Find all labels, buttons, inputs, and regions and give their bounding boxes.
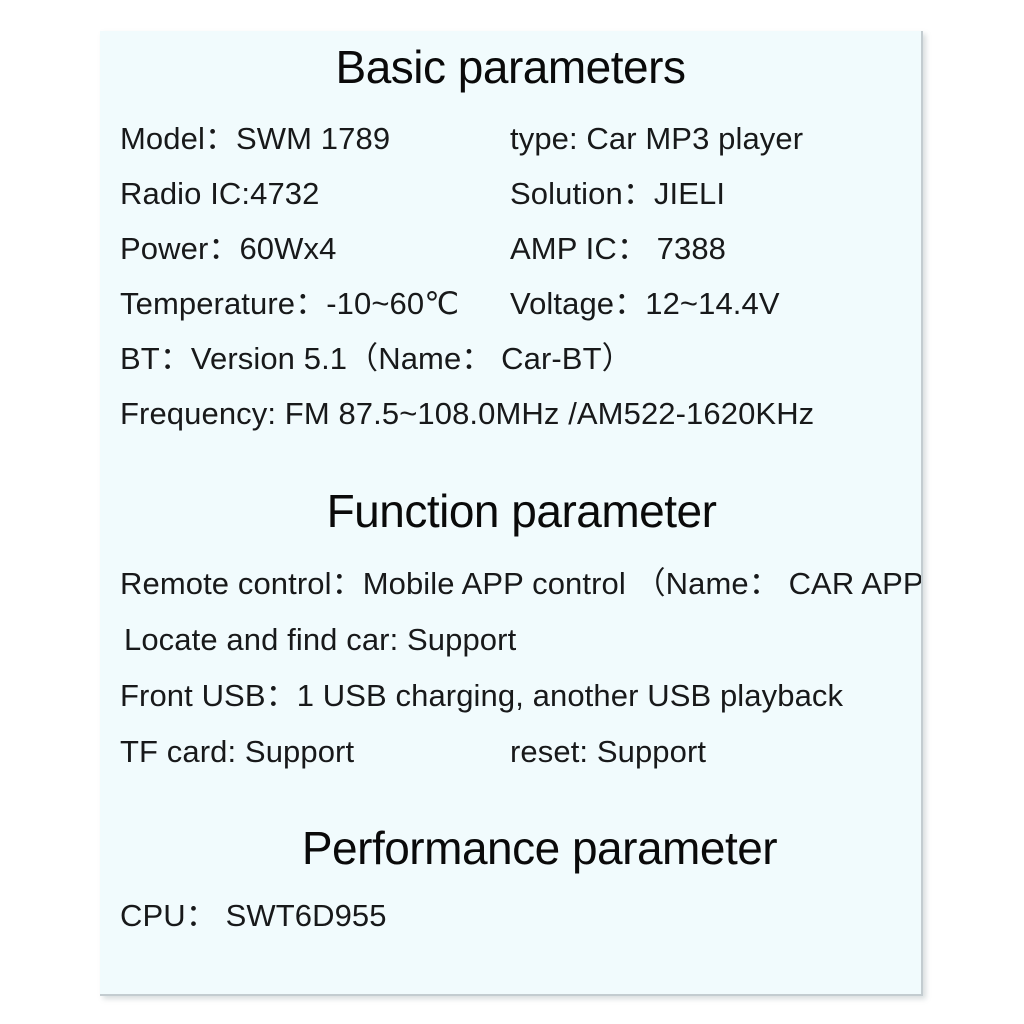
section-performance-parameter: Performance parameter CPU： SWT6D955	[100, 824, 921, 943]
table-row: Temperature：-10~60℃ Voltage：12~14.4V	[100, 276, 921, 331]
spec-cpu: CPU： SWT6D955	[120, 888, 387, 943]
basic-parameter-rows: Model：SWM 1789 type: Car MP3 player Radi…	[100, 111, 921, 441]
table-row: Front USB：1 USB charging, another USB pl…	[100, 668, 921, 724]
table-row: Frequency: FM 87.5~108.0MHz /AM522-1620K…	[100, 386, 921, 441]
spec-locate-find-car: Locate and find car: Support	[124, 612, 516, 668]
section-title-basic: Basic parameters	[100, 43, 921, 91]
table-row: Power：60Wx4 AMP IC： 7388	[100, 221, 921, 276]
spec-radio-ic: Radio IC:4732	[120, 166, 320, 221]
spec-bluetooth: BT：Version 5.1（Name： Car-BT）	[120, 331, 633, 386]
section-function-parameter: Function parameter Remote control：Mobile…	[100, 487, 921, 779]
table-row: Remote control：Mobile APP control （Name：…	[100, 556, 921, 612]
function-parameter-rows: Remote control：Mobile APP control （Name：…	[100, 556, 921, 780]
spec-remote-control: Remote control：Mobile APP control （Name：…	[120, 556, 923, 612]
section-basic-parameters: Basic parameters Model：SWM 1789 type: Ca…	[100, 43, 921, 441]
section-title-function: Function parameter	[100, 487, 921, 535]
spec-frequency: Frequency: FM 87.5~108.0MHz /AM522-1620K…	[120, 386, 814, 441]
spec-voltage: Voltage：12~14.4V	[510, 276, 780, 331]
table-row: TF card: Support reset: Support	[100, 724, 921, 780]
spec-type: type: Car MP3 player	[510, 111, 803, 166]
spec-amp-ic: AMP IC： 7388	[510, 221, 726, 276]
spec-model: Model：SWM 1789	[120, 111, 390, 166]
table-row: Radio IC:4732 Solution：JIELI	[100, 166, 921, 221]
spec-tf-card: TF card: Support	[120, 724, 354, 780]
spec-solution: Solution：JIELI	[510, 166, 725, 221]
spec-reset: reset: Support	[510, 724, 706, 780]
table-row: Model：SWM 1789 type: Car MP3 player	[100, 111, 921, 166]
table-row: BT：Version 5.1（Name： Car-BT）	[100, 331, 921, 386]
performance-parameter-rows: CPU： SWT6D955	[100, 888, 921, 943]
table-row: CPU： SWT6D955	[100, 888, 921, 943]
table-row: Locate and find car: Support	[100, 612, 921, 668]
spec-power: Power：60Wx4	[120, 221, 336, 276]
specification-card: Basic parameters Model：SWM 1789 type: Ca…	[100, 31, 923, 996]
section-title-performance: Performance parameter	[100, 824, 921, 872]
spec-front-usb: Front USB：1 USB charging, another USB pl…	[120, 668, 843, 724]
spec-temperature: Temperature：-10~60℃	[120, 276, 459, 331]
